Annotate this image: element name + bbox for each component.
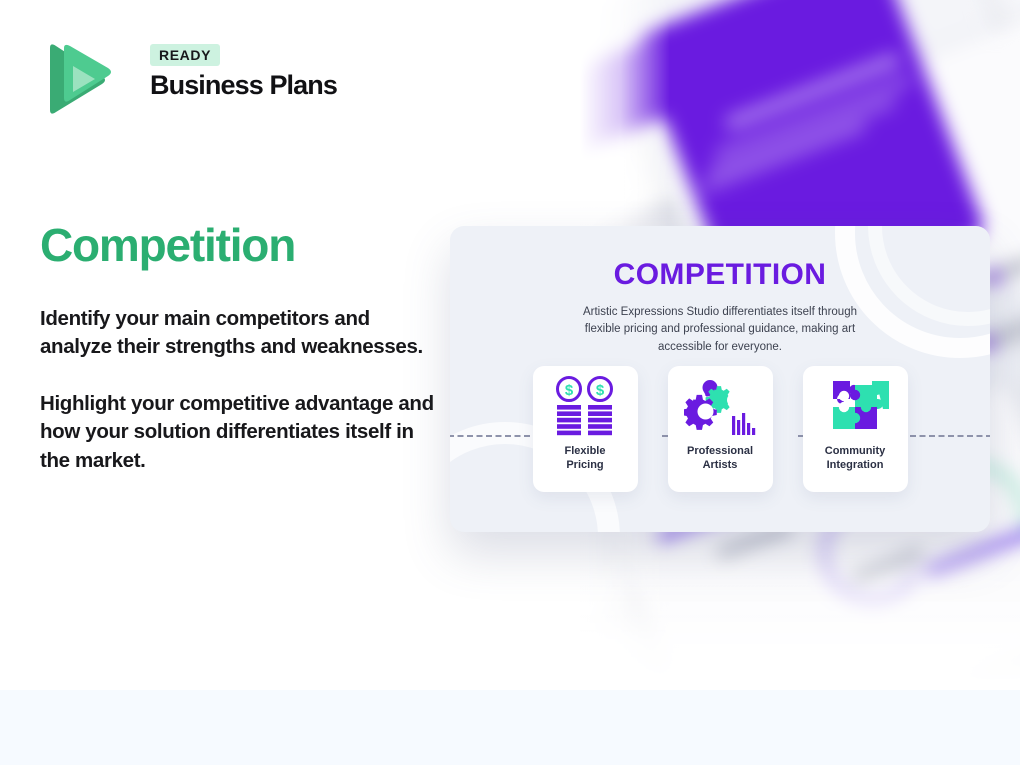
brand-name: Business Plans: [150, 70, 337, 101]
svg-text:$: $: [565, 382, 574, 399]
bottom-strip: [0, 690, 1020, 765]
brand-wordmark: READY Business Plans: [150, 44, 337, 101]
feature-label-line1: Professional: [687, 445, 753, 457]
feature-label-line2: Integration: [827, 459, 884, 471]
feature-label-line1: Flexible: [565, 445, 606, 457]
gears-lightbulb-chart-icon: [684, 376, 756, 438]
competition-slide-card: COMPETITION Artistic Expressions Studio …: [450, 226, 990, 532]
bottom-edge-fade: [580, 540, 1020, 690]
body-paragraph: Highlight your competitive advantage and…: [40, 390, 435, 475]
coin-stacks-icon: $ $: [549, 376, 621, 438]
play-triangle-logo-icon: [40, 40, 112, 118]
feature-label: Professional Artists: [687, 445, 753, 473]
puzzle-pieces-icon: [819, 376, 891, 438]
feature-label: Flexible Pricing: [565, 445, 606, 473]
body-copy: Identify your main competitors and analy…: [40, 305, 435, 475]
ready-badge: READY: [150, 44, 220, 66]
feature-label-line2: Artists: [703, 459, 738, 471]
page-title: Competition: [40, 218, 295, 272]
feature-card-flexible-pricing[interactable]: $ $ Flexible Pricing: [533, 366, 638, 492]
slide-title: COMPETITION: [450, 258, 990, 292]
body-paragraph: Identify your main competitors and analy…: [40, 305, 435, 362]
feature-card-professional-artists[interactable]: Professional Artists: [668, 366, 773, 492]
slide-page: READY Business Plans Competition Identif…: [0, 0, 1020, 765]
brand-logo: READY Business Plans: [40, 40, 370, 120]
feature-card-row: $ $ Flexible Pricing: [450, 366, 990, 492]
slide-description: Artistic Expressions Studio differentiat…: [565, 304, 875, 356]
feature-label-line2: Pricing: [566, 459, 603, 471]
feature-card-community-integration[interactable]: Community Integration: [803, 366, 908, 492]
feature-label-line1: Community: [825, 445, 886, 457]
feature-label: Community Integration: [825, 445, 886, 473]
svg-text:$: $: [596, 382, 605, 399]
